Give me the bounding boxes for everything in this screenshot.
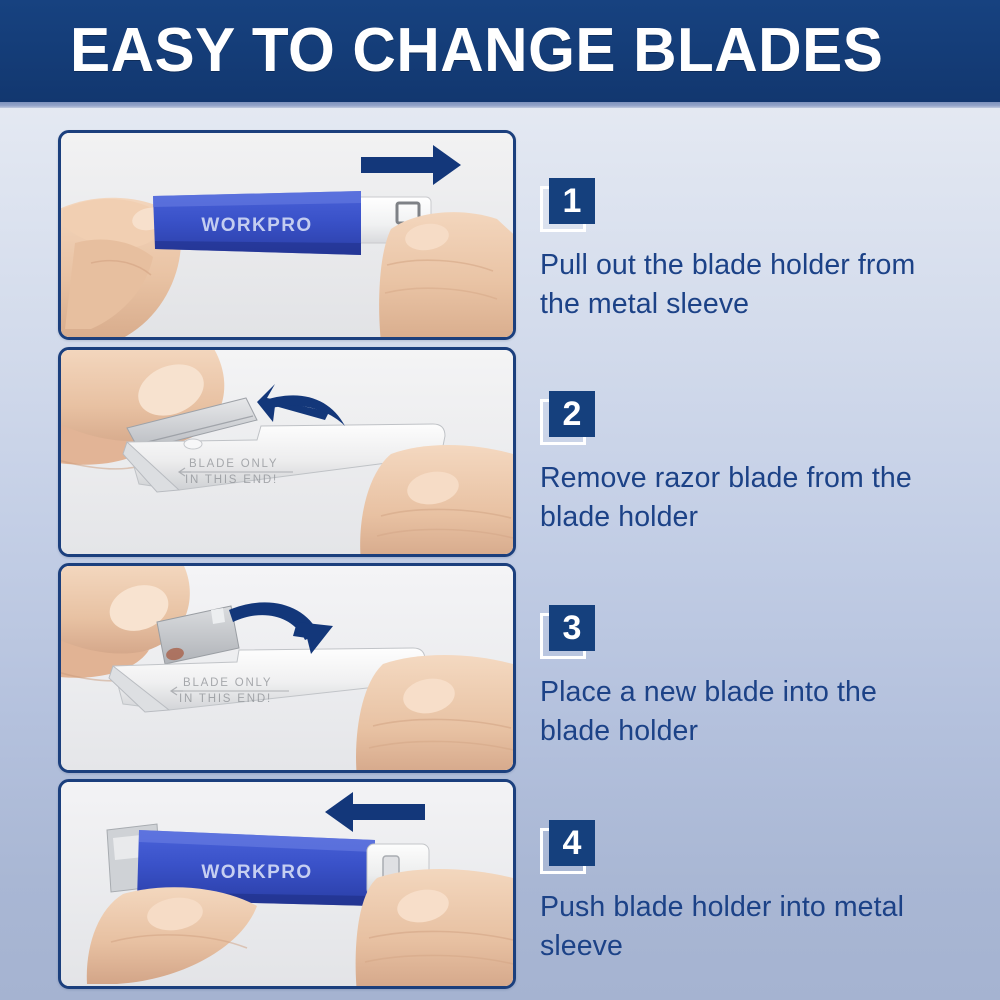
badge-number-1: 1 xyxy=(549,178,595,224)
badge-number-2: 2 xyxy=(549,391,595,437)
step-photo-2: BLADE ONLY IN THIS END! xyxy=(58,347,516,557)
step-badge-2: 2 xyxy=(540,391,600,449)
content-area: WORKPRO xyxy=(0,108,1000,1000)
step-text-2: Remove razor blade from the blade holder xyxy=(540,459,948,538)
step-3: 3 Place a new blade into the blade holde… xyxy=(540,605,960,752)
badge-number-4: 4 xyxy=(549,820,595,866)
engraving-3: BLADE ONLY IN THIS END! xyxy=(171,677,289,705)
badge-number-3: 3 xyxy=(549,605,595,651)
photo-remove-razor-blade: BLADE ONLY IN THIS END! xyxy=(61,350,513,554)
step-photo-3: BLADE ONLY IN THIS END! xyxy=(58,563,516,773)
header-banner: EASY TO CHANGE BLADES xyxy=(0,0,1000,102)
photo-push-holder-into-sleeve: WORKPRO xyxy=(61,782,513,986)
step-photo-1: WORKPRO xyxy=(58,130,516,340)
engraving-2: BLADE ONLY IN THIS END! xyxy=(179,458,293,486)
step-2: 2 Remove razor blade from the blade hold… xyxy=(540,391,960,538)
brand-label-1: WORKPRO xyxy=(201,215,312,236)
svg-text:IN THIS END!: IN THIS END! xyxy=(185,474,278,486)
brand-label-4: WORKPRO xyxy=(201,862,312,883)
svg-text:BLADE ONLY: BLADE ONLY xyxy=(189,458,278,470)
photo-pull-out-blade-holder: WORKPRO xyxy=(61,133,513,337)
svg-text:BLADE ONLY: BLADE ONLY xyxy=(183,677,272,689)
step-text-3: Place a new blade into the blade holder xyxy=(540,673,948,752)
step-1: 1 Pull out the blade holder from the met… xyxy=(540,178,960,325)
step-photo-4: WORKPRO xyxy=(58,779,516,989)
step-badge-1: 1 xyxy=(540,178,600,236)
step-text-1: Pull out the blade holder from the metal… xyxy=(540,246,948,325)
step-badge-4: 4 xyxy=(540,820,600,878)
step-4: 4 Push blade holder into metal sleeve xyxy=(540,820,960,967)
page-title: EASY TO CHANGE BLADES xyxy=(70,20,883,82)
step-badge-3: 3 xyxy=(540,605,600,663)
photo-place-new-blade: BLADE ONLY IN THIS END! xyxy=(61,566,513,770)
step-text-4: Push blade holder into metal sleeve xyxy=(540,888,948,967)
svg-text:IN THIS END!: IN THIS END! xyxy=(179,693,272,705)
infographic-page: EASY TO CHANGE BLADES xyxy=(0,0,1000,1000)
